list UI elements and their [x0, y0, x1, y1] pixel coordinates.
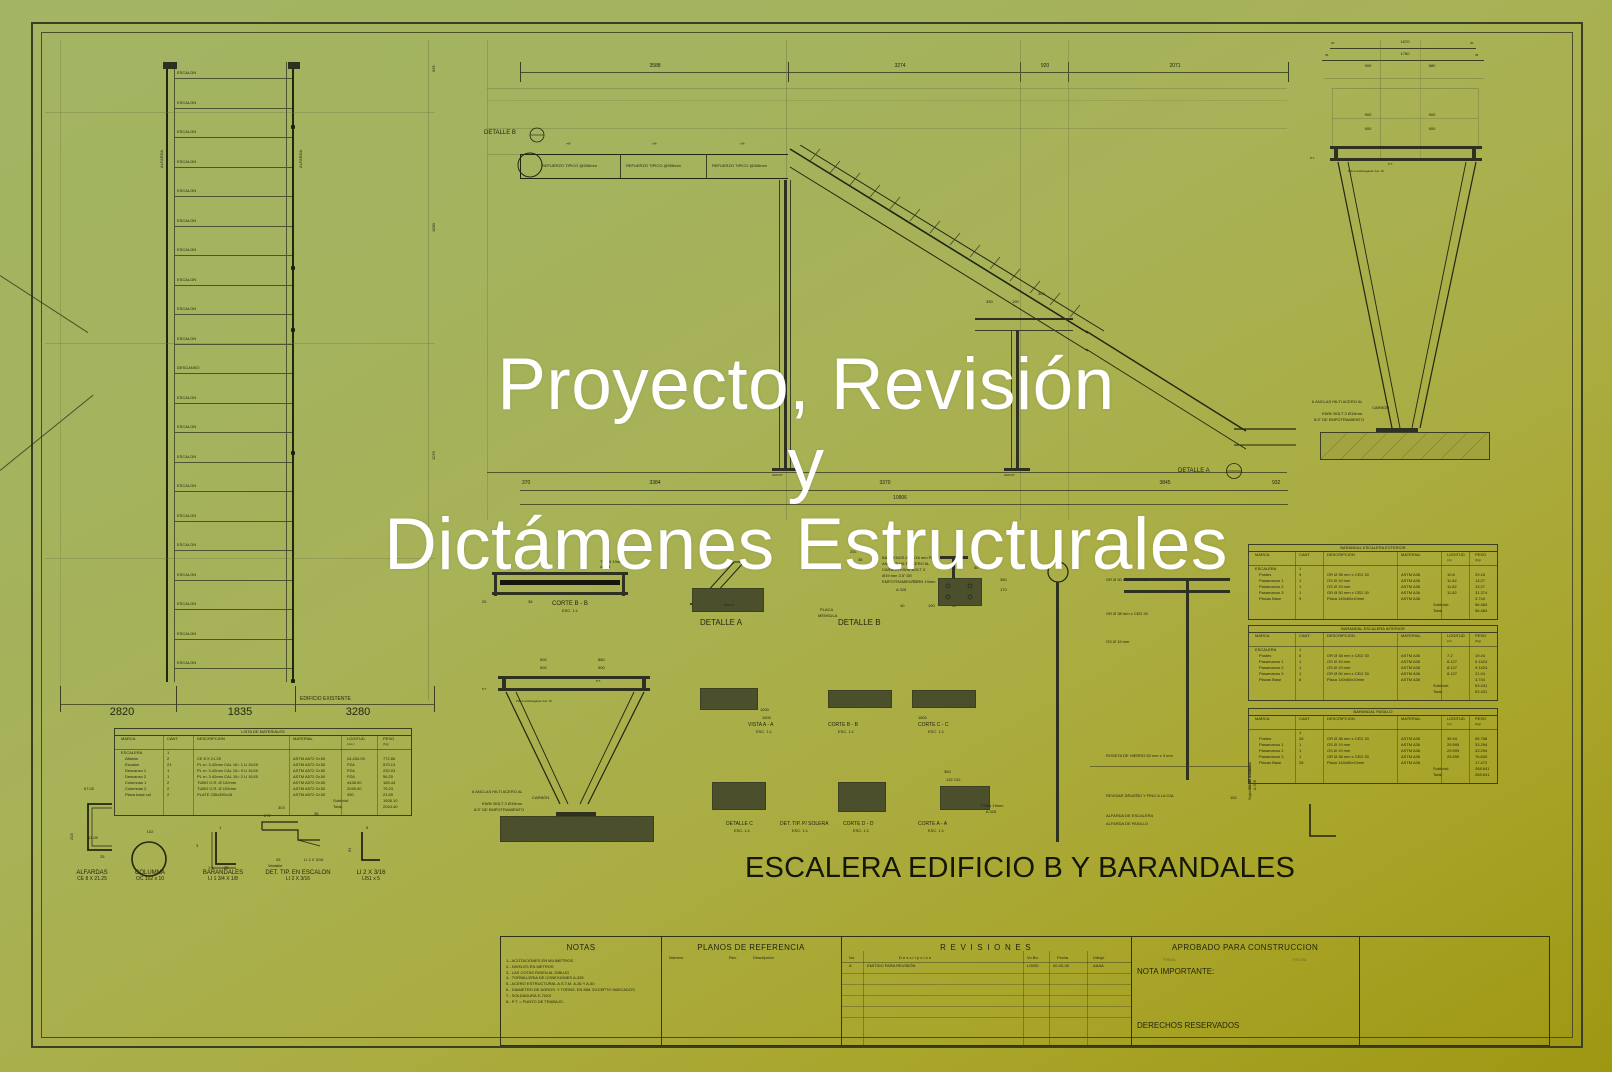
table-vrule	[1441, 632, 1442, 700]
table-header: PESO	[1475, 717, 1486, 722]
table-cell-material: ASTM A572 Gr.50	[293, 769, 325, 774]
rail-note-revise: REVISAR DRUEÑO Y FINO A LA CAL	[1106, 794, 1174, 799]
table-vrule	[1295, 632, 1296, 700]
table-cell-desc: OS Ø 19 mm	[1327, 660, 1350, 665]
legend-sub-columna: OC 102 x 10	[112, 877, 188, 883]
table-cell-cant: 2	[167, 757, 169, 762]
table-cell-peso: 9.1424	[1475, 660, 1487, 665]
overlay-line-1: Proyecto, Revisión	[497, 344, 1115, 425]
corte-bb-scale: ESC. 1:1	[562, 609, 578, 614]
table-header: MARCA	[121, 737, 135, 742]
table-header: PESO	[383, 737, 394, 742]
pt-label-tr-1: P.T.	[1310, 157, 1315, 160]
table-cell-desc: CE 8 X 21.25	[197, 757, 221, 762]
tread-label: ESCALON	[177, 278, 196, 283]
table-vrule	[289, 735, 290, 815]
tb-rev-col-0: No.	[849, 956, 855, 961]
rail-note-or38: OR Ø 38 mm x CED 30	[1106, 612, 1148, 617]
detail-callout-b: DETALLE B	[484, 130, 516, 137]
top-dim-3: 920	[995, 64, 1095, 70]
stair-tread	[174, 78, 292, 79]
barandal-table-interior: BARANDAL ESCALERA INTERIORMARCACANT.DESC…	[1248, 625, 1498, 701]
table-hrule	[115, 749, 411, 750]
table-subheader: (mm.)	[347, 743, 355, 746]
table-cell-desc: Placa 140x60x10mm	[1327, 678, 1364, 683]
table-cell-cant: 1	[1299, 660, 1301, 665]
anchor-note-bl-1: 6 ANCLAS HILTI ACERO AL	[472, 790, 523, 795]
table-cell-material: ASTM A36	[1401, 678, 1420, 683]
legend-sub-li2: LI51 x 5	[340, 877, 402, 883]
table-cell-peso: 570.13	[383, 763, 395, 768]
corte-dd-label: CORTE D - D	[843, 822, 873, 828]
tread-label: ESCALON	[177, 71, 196, 76]
table-cell-desc: TUBO O.R. Ø 102mm	[197, 787, 236, 792]
corte-aa-label: CORTE A - A	[918, 822, 947, 828]
table-cell-desc: OS Ø 19 mm	[1327, 749, 1350, 754]
sd-bdim-3: 900	[1340, 127, 1396, 132]
rail-note-alfarda-pas: ALFARDA DE PASILLO	[1106, 822, 1148, 827]
table-cell-marca: Alfarda	[125, 757, 138, 762]
tb-revisiones-cell: R E V I S I O N E S No. D e s c r i p c …	[841, 937, 1132, 1045]
table-header: LOGITUD	[1447, 634, 1465, 639]
table-cell-cant: 1	[1299, 585, 1301, 590]
corte-aa-scale: ESC. 1:1	[928, 829, 944, 834]
tread-label: ESCALON	[177, 160, 196, 165]
overlay-line-2: y	[0, 425, 1612, 505]
tb-notas-heading: NOTAS	[501, 943, 661, 952]
table-cell-marca: Descanso 1	[125, 769, 146, 774]
angle-bracket-icon	[1306, 802, 1340, 842]
table-header: CANT.	[1299, 634, 1311, 639]
stair-tread	[174, 167, 292, 168]
table-cell-material: ASTM A572 Gr.50	[293, 781, 325, 786]
tb-derechos: DERECHOS RESERVADOS	[1137, 1021, 1239, 1030]
tb-aprobado-firma: FIRMA	[1163, 958, 1175, 963]
tread-label: ESCALON	[177, 101, 196, 106]
table-cell-material: ASTM A36	[1401, 672, 1420, 677]
pt-label-bl-2: P.T.	[596, 680, 601, 683]
stair-tread	[174, 108, 292, 109]
table-cell-cant: 1	[1299, 672, 1301, 677]
detalle-c-scale: ESC. 1:1	[734, 829, 750, 834]
table-cell-long: PZA	[347, 769, 355, 774]
rail-note-roseta: ROSETA DE HIERRO 50 mm x 3 mm	[1106, 754, 1173, 759]
table-cell-desc: PL e= 3.42mm CAL 10= 9 LI 51X5	[197, 769, 258, 774]
table-subtotal: 63.431	[1475, 684, 1487, 689]
table-cell-marca: Pasamanos 2	[1259, 749, 1283, 754]
table-cell-marca: Pasamanos 3	[1259, 755, 1283, 760]
detail-bubble-b-icon	[528, 126, 546, 144]
tb-notas-list: 1.- ACOTACIONES EN MILIMETROS2.- NIVELES…	[506, 958, 658, 1004]
table-group: ESCALERA	[1255, 648, 1276, 653]
table-cell-desc: TUBO O.R. Ø 102mm	[197, 781, 236, 786]
sd-tick-30b: 30	[1470, 42, 1473, 45]
table-subtotal: 268.641	[1475, 767, 1489, 772]
stair-tread	[174, 226, 292, 227]
table-cell-marca: Placas Base	[1259, 597, 1281, 602]
table-vrule	[1295, 715, 1296, 783]
table-cell-marca: Placas Base	[1259, 678, 1281, 683]
table-cell-marca: Placa base col	[125, 793, 151, 798]
table-hrule	[1249, 632, 1497, 633]
table-cell-material: ASTM A36	[1401, 761, 1420, 766]
table-cell-desc: Placa 140x60x10mm	[1327, 597, 1364, 602]
table-cell-peso: 13.27	[1475, 585, 1485, 590]
table-cell-material: ASTM A572 Gr.50	[293, 763, 325, 768]
table-cell-cant: 1	[1299, 666, 1301, 671]
existing-building-label: EDIFICIO EXISTENTE	[300, 697, 351, 703]
tb-aprobado-cell: APROBADO PARA CONSTRUCCION FIRMA FECHA N…	[1131, 937, 1360, 1045]
stringer-label-left: ALFARDA	[160, 150, 165, 168]
table-cell-desc: OR Ø 38 mm x CED 30	[1327, 737, 1369, 742]
table-cell-material: ASTM A36	[1401, 654, 1420, 659]
table-header: DESCRIPCION	[1327, 634, 1355, 639]
table-cell-peso: 9.1424	[1475, 666, 1487, 671]
table-hrule	[1249, 715, 1497, 716]
table-header: CANT.	[167, 737, 179, 742]
tb-rev-col-1: D e s c r i p c i ó n	[899, 956, 931, 961]
table-cell-cant: 2	[167, 781, 169, 786]
reinf-label-1: REFUERZO TIPICO @306mm	[542, 164, 597, 169]
table-cell-peso: 21.04	[1475, 672, 1485, 677]
tb-aprobado-fecha: FECHA	[1293, 958, 1307, 963]
detalle-a-label: DETALLE A	[700, 618, 742, 627]
table-subheader: (Kg)	[383, 743, 389, 746]
table-cell-cant: 1	[1299, 755, 1301, 760]
table-cell-cant: 2	[167, 793, 169, 798]
table-cell-long: 8.127	[1447, 666, 1457, 671]
table-cell-peso: 232.03	[383, 769, 395, 774]
table-vrule	[163, 735, 164, 815]
table-vrule	[1323, 715, 1324, 783]
table-vrule	[377, 735, 378, 815]
tb-rev-r0-no: A	[849, 964, 852, 969]
anchor-note-bl-3: KWIK BOLT 3 Ø19mm	[482, 802, 522, 807]
table-cell-desc: PLATE 230x390x16	[197, 793, 232, 798]
stair-tread	[174, 609, 292, 610]
detalle-b-label: DETALLE B	[838, 618, 881, 627]
beam-end-circle-icon	[515, 148, 545, 182]
top-dim-2: 3274	[845, 64, 955, 70]
table-subheader: (Kg)	[1475, 723, 1481, 726]
table-subheader: (m)	[1447, 640, 1452, 643]
table-group-qty: 1	[1299, 648, 1301, 653]
table-cell-cant: 1	[167, 769, 169, 774]
table-cell-material: ASTM A36	[1401, 585, 1420, 590]
tb-rev-r0-vobo: LGMG	[1027, 964, 1039, 969]
stair-tread	[174, 668, 292, 669]
table-total: 2024.40	[383, 805, 397, 810]
table-cell-long: 8.127	[1447, 672, 1457, 677]
overlay-headline: Proyecto, Revisión y Dictámenes Estructu…	[0, 345, 1612, 585]
table-cell-material: ASTM A36	[1401, 666, 1420, 671]
table-cell-peso: 772.66	[383, 757, 395, 762]
tread-label: ESCALON	[177, 219, 196, 224]
tb-nota-importante: NOTA IMPORTANTE:	[1137, 967, 1214, 976]
legend-sub-barandales: LI 1 3/4 X 1/8	[186, 877, 260, 883]
table-header: DESCRIPCION	[1327, 717, 1355, 722]
table-cell-cant: 1	[1299, 749, 1301, 754]
table-cell-marca: Postes	[1259, 654, 1271, 659]
dim-3280: 3280	[300, 706, 416, 718]
table-cell-long: 29.595	[1447, 749, 1459, 754]
table-hrule	[1249, 646, 1497, 647]
anchor-note-bl-4: 8.5" DE EMPOTRAMIENTO	[474, 808, 524, 813]
tb-rev-col-2: Vo.Bo.	[1027, 956, 1039, 961]
table-cell-marca: Escalon	[125, 763, 139, 768]
tread-label: ESCALON	[177, 189, 196, 194]
nota-item: 8.- P.T. = PUNTO DE TRABAJO.	[506, 999, 658, 1005]
tb-aprobado-heading: APROBADO PARA CONSTRUCCION	[1131, 943, 1359, 952]
reinf-label-2: REFUERZO TIPICO @306mm	[626, 164, 681, 169]
table-vrule	[1441, 715, 1442, 783]
table-cell-cant: 21	[167, 763, 171, 768]
pt-label-bl-1: P.T.	[482, 688, 487, 691]
table-cell-material: ASTM A572 Gr.50	[293, 787, 325, 792]
dim-2820: 2820	[64, 706, 180, 718]
table-cell-cant: 1	[1299, 591, 1301, 596]
stair-tread	[174, 314, 292, 315]
table-cell-marca: Pasamanos 3	[1259, 591, 1283, 596]
table-cell-material: ASTM A572 Gr.50	[293, 775, 325, 780]
vista-aa-label: VISTA A - A	[748, 723, 773, 729]
sd-tick-35b: 35	[1475, 54, 1478, 57]
title-block: NOTAS 1.- ACOTACIONES EN MILIMETROS2.- N…	[500, 936, 1550, 1046]
table-cell-peso: 76.600	[1475, 755, 1487, 760]
tread-label: ESCALON	[177, 337, 196, 342]
sd-dim-880: 880	[1404, 64, 1460, 69]
table-header: MATERIAL	[293, 737, 313, 742]
corte-bb2-label: CORTE B - B	[828, 723, 858, 729]
table-cell-long: 29.595	[1447, 743, 1459, 748]
table-vrule	[1397, 632, 1398, 700]
table-vrule	[341, 735, 342, 815]
table-vrule	[1323, 632, 1324, 700]
tread-label: ESCALON	[177, 130, 196, 135]
table-total: 56.484	[1475, 609, 1487, 614]
table-cell-desc: OR Ø 50 mm x CED 30	[1327, 672, 1369, 677]
corte-cc-scale: ESC. 1:1	[928, 730, 944, 735]
table-cell-peso: 33.294	[1475, 743, 1487, 748]
rail-note-alfarda-esc: ALFARDA DE ESCALERA	[1106, 814, 1153, 819]
tread-label: ESCALON	[177, 632, 196, 637]
stringer-label-right: ALFARDA	[299, 150, 304, 168]
table-cell-long: 25.595	[1447, 755, 1459, 760]
materials-table: LISTA DE MATERIALESMARCACANT.DESCRIPCION…	[114, 728, 412, 816]
tb-planos-col-2: Descripción	[753, 956, 774, 961]
table-cell-marca: Pasamanos 1	[1259, 660, 1283, 665]
table-cell-cant: 1	[167, 775, 169, 780]
sd-tick-30: 30	[1331, 42, 1334, 45]
tread-label: ESCALON	[177, 602, 196, 607]
det-solera-label: DET. TIP. P/ SOLERA	[780, 822, 828, 828]
vista-aa-scale: ESC. 1:1	[756, 730, 772, 735]
stair-tread	[174, 639, 292, 640]
tread-label: ESCALON	[177, 307, 196, 312]
stair-tread	[174, 196, 292, 197]
table-header: MATERIAL	[1401, 717, 1421, 722]
table-hrule	[1249, 729, 1497, 730]
table-cell-peso: 76.23	[383, 787, 393, 792]
table-cell-marca: Pasamanos 1	[1259, 743, 1283, 748]
tb-notas-cell: NOTAS 1.- ACOTACIONES EN MILIMETROS2.- N…	[501, 937, 662, 1045]
tread-label: ESCALON	[177, 661, 196, 666]
top-dim-1: 3588	[600, 64, 710, 70]
table-cell-material: ASTM A36	[1401, 591, 1420, 596]
table-vrule	[1469, 632, 1470, 700]
table-header: PESO	[1475, 634, 1486, 639]
table-title: BARANDAL ESCALERA INTERIOR	[1249, 627, 1497, 632]
sheet-title: ESCALERA EDIFICIO B Y BARANDALES	[745, 852, 1295, 885]
table-cell-long: 7.2	[1447, 654, 1453, 659]
table-cell-long: 390	[347, 793, 354, 798]
table-header: MATERIAL	[1401, 634, 1421, 639]
tread-label: ESCALON	[177, 248, 196, 253]
table-cell-peso: 17.472	[1475, 761, 1487, 766]
cad-table: LISTA DE MATERIALESMARCACANT.DESCRIPCION…	[114, 728, 412, 816]
table-cell-long: 4438.00	[347, 781, 361, 786]
table-cell-long: 11.82	[1447, 591, 1457, 596]
table-cell-material: ASTM A36	[1401, 755, 1420, 760]
table-group-qty: 1	[1299, 731, 1301, 736]
corte-dd-scale: ESC. 1:1	[853, 829, 869, 834]
table-cell-cant: 2	[167, 787, 169, 792]
table-cell-cant: 6	[1299, 654, 1301, 659]
table-total: 63.431	[1475, 690, 1487, 695]
table-hrule	[115, 735, 411, 736]
tb-rev-r0-desc: EMITIDO PARA REVISIÓN	[867, 964, 915, 969]
footing-hatch-bl	[500, 816, 652, 841]
table-subtotal: 56.484	[1475, 603, 1487, 608]
blueprint-page: ESCALONESCALONESCALONESCALONESCALONESCAL…	[0, 0, 1612, 1072]
reinf-label-3: REFUERZO TIPICO @306mm	[712, 164, 767, 169]
table-group-qty: 1	[167, 751, 169, 756]
table-cell-long: 2045.00	[347, 787, 361, 792]
sd-tick-35: 35	[1325, 54, 1328, 57]
table-group: ESCALERA	[121, 751, 142, 756]
table-cell-desc: OR Ø 38 mm x CED 30	[1327, 755, 1369, 760]
top-dim-4: 2071	[1120, 64, 1230, 70]
table-cell-peso: 33.294	[1475, 749, 1487, 754]
stair-tread	[174, 255, 292, 256]
grout-label-3: GROUT	[724, 604, 735, 607]
table-cell-cant: 6	[1299, 678, 1301, 683]
table-cell-marca: Columnas 2	[125, 787, 146, 792]
tb-rev-r0-dibujo: AAAA	[1093, 964, 1104, 969]
overlay-line-3: Dictámenes Estructurales	[0, 505, 1612, 585]
table-cell-marca: Placas Base	[1259, 761, 1281, 766]
table-cell-peso: 3.744	[1475, 678, 1485, 683]
table-cell-peso: 3.744	[1475, 597, 1485, 602]
table-cell-cant: 28	[1299, 737, 1303, 742]
table-cell-marca: Postes	[1259, 737, 1271, 742]
table-cell-cant: 9	[1299, 597, 1301, 602]
sd-bdim-2: 900	[1404, 113, 1460, 118]
table-cell-desc: PL e= 3.42mm CAL 10= 1 LI 51X5	[197, 763, 258, 768]
table-cell-desc: OR Ø 50 mm x CED 30	[1327, 591, 1369, 596]
tb-rev-col-3: Fecha	[1057, 956, 1068, 961]
table-header: CANT.	[1299, 717, 1311, 722]
det-solera-scale: ESC. 1:1	[792, 829, 808, 834]
corte-cc-label: CORTE C - C	[918, 723, 948, 729]
stair-tread	[174, 285, 292, 286]
table-cell-material: ASTM A36	[1401, 737, 1420, 742]
tb-planos-col-1: Rev.	[729, 956, 737, 961]
dim-1835: 1835	[182, 706, 298, 718]
table-cell-material: ASTM A572 Gr.50	[293, 757, 325, 762]
table-header: MARCA	[1255, 717, 1269, 722]
tb-rev-r0-fecha: 00-00-00	[1053, 964, 1069, 969]
table-cell-peso: 96.768	[1475, 737, 1487, 742]
table-vrule	[193, 735, 194, 815]
table-header: DESCRIPCION	[197, 737, 225, 742]
table-cell-desc: PL e= 3.42mm CAL 10= 2 LI 51X5	[197, 775, 258, 780]
detalle-c-label: DETALLE C	[726, 822, 753, 828]
table-cell-peso: 21.65	[383, 793, 393, 798]
legend-sub-det-escalon: LI 2 X 3/16	[252, 877, 344, 883]
table-cell-peso: 31.374	[1475, 591, 1487, 596]
table-cell-long: PZA	[347, 763, 355, 768]
table-subtotal: 1928.10	[383, 799, 397, 804]
table-subheader: (Kg)	[1475, 640, 1481, 643]
corte-bb-label: CORTE B - B	[552, 601, 588, 608]
table-cell-material: ASTM A36	[1401, 597, 1420, 602]
table-vrule	[1469, 715, 1470, 783]
table-cell-desc: OS Ø 19 mm	[1327, 666, 1350, 671]
table-cell-long: PZA	[347, 775, 355, 780]
table-cell-long: 24,434.00	[347, 757, 365, 762]
table-header: LOGITUD	[1447, 717, 1465, 722]
corte-bb2-scale: ESC. 1:1	[838, 730, 854, 735]
table-subheader: (m)	[1447, 723, 1452, 726]
table-header: LOGITUD	[347, 737, 365, 742]
table-cell-marca: Pasamanos 3	[1259, 672, 1283, 677]
tb-rev-col-4: Dibujó	[1093, 956, 1104, 961]
stair-tread	[174, 137, 292, 138]
sd-bdim-4: 900	[1404, 127, 1460, 132]
table-cell-long: 8.127	[1447, 660, 1457, 665]
cad-table: BARANDAL ESCALERA INTERIORMARCACANT.DESC…	[1248, 625, 1498, 701]
tb-planos-col-0: Número	[669, 956, 683, 961]
anchor-note-bl-2: CARBÓN	[532, 796, 549, 801]
sd-bdim-1: 900	[1340, 113, 1396, 118]
tb-planos-cell: PLANOS DE REFERENCIA Número Rev. Descrip…	[661, 937, 842, 1045]
table-cell-desc: OR Ø 38 mm x CED 30	[1327, 654, 1369, 659]
table-cell-material: ASTM A36	[1401, 743, 1420, 748]
table-cell-material: ASTM A36	[1401, 660, 1420, 665]
table-vrule	[1397, 715, 1398, 783]
tb-planos-heading: PLANOS DE REFERENCIA	[661, 943, 841, 952]
barandal-table-pasillo: BARANDAL PASILLOMARCACANT.DESCRIPCIONMAT…	[1248, 708, 1498, 784]
table-cell-marca: Pasamanos 2	[1259, 666, 1283, 671]
table-cell-long: 11.82	[1447, 585, 1457, 590]
table-cell-long: 35.94	[1447, 737, 1457, 742]
table-cell-cant: 28	[1299, 761, 1303, 766]
table-cell-desc: OS Ø 19 mm	[1327, 743, 1350, 748]
cad-table: BARANDAL PASILLOMARCACANT.DESCRIPCIONMAT…	[1248, 708, 1498, 784]
table-cell-marca: Descanso 2	[125, 775, 146, 780]
table-cell-cant: 1	[1299, 743, 1301, 748]
table-cell-material: ASTM A36	[1401, 749, 1420, 754]
table-cell-material: ASTM A572 Gr.50	[293, 793, 325, 798]
table-cell-marca: Columnas 1	[125, 781, 146, 786]
small-angle-icon	[352, 830, 382, 870]
sd-dim-900: 900	[1340, 64, 1396, 69]
table-header: MARCA	[1255, 634, 1269, 639]
table-cell-peso: 56.20	[383, 775, 393, 780]
table-cell-marca: Pasamanos 2	[1259, 585, 1283, 590]
table-cell-peso: 165.44	[383, 781, 395, 786]
